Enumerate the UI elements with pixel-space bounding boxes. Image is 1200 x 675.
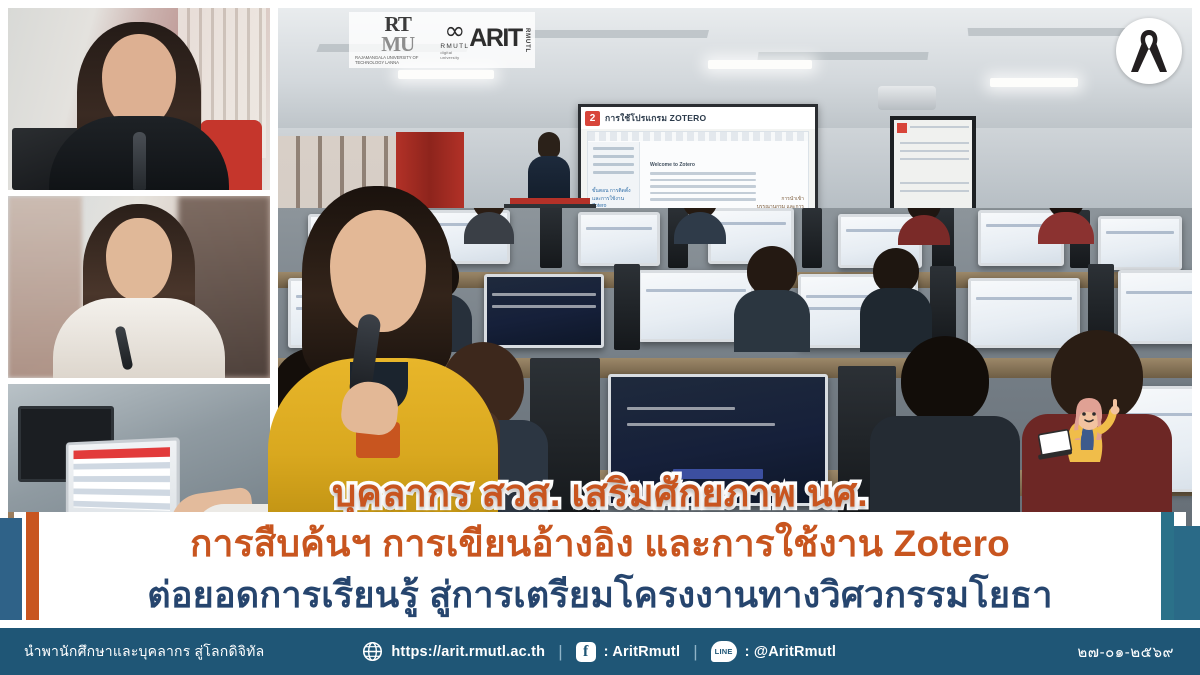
slide-number-badge [897,123,907,133]
footer-facebook-text: : AritRmutl [604,644,681,660]
person-face [102,34,176,128]
footer-separator: | [558,642,562,662]
logo-infinity-caption: RMUTL [440,43,469,50]
student [898,208,950,244]
footer-tagline: นำพานักศึกษาและบุคลากร สู่โลกดิจิทัล [24,641,264,663]
photo-speaker-portrait-white-blouse [8,196,270,378]
footer-line-text: : @AritRmutl [745,644,836,660]
student-body [734,290,810,352]
screen-line [1126,291,1192,294]
wall-mounted-monitor [890,116,976,214]
sidebar-line [593,155,634,158]
content-line [650,185,756,188]
lab-monitor [1098,216,1182,270]
logo-strip: RT MU RAJAMANGALA UNIVERSITY OF TECHNOLO… [349,12,535,68]
tv-line [900,158,969,160]
ceiling-projector [878,86,936,110]
slide-header: 2 การใช้โปรแกรม ZOTERO [581,107,815,129]
student-head [747,246,797,296]
footer-line[interactable]: : @AritRmutl [711,641,836,662]
student [1038,208,1094,244]
logo-rmutl-subtext: RAJAMANGALA UNIVERSITY OF TECHNOLOGY LAN… [355,55,440,65]
slide-app-toolbar [588,132,808,141]
line-icon [711,641,737,662]
logo-rmutl-line2: MU [381,35,414,54]
speaker-face [330,210,426,332]
mourning-ribbon-badge [1116,18,1182,84]
slide-number-badge: 2 [585,111,600,126]
ceiling-panel [757,52,928,60]
slide-title: การใช้โปรแกรม ZOTERO [605,111,706,125]
tv-line [900,150,969,152]
projection-screen: 2 การใช้โปรแกรม ZOTERO Welcome to Zotero [578,104,818,224]
logo-rmutl-wordmark: RT MU RAJAMANGALA UNIVERSITY OF TECHNOLO… [355,15,440,65]
logo-arit-text: ARIT [469,27,521,50]
headline-line-3: ต่อยอดการเรียนรู้ สู่การเตรียมโครงงานทาง… [0,566,1200,623]
presenter-head [538,132,560,158]
pc-tower [614,264,640,350]
footer-facebook[interactable]: : AritRmutl [576,642,681,662]
mourning-ribbon-icon [1128,28,1170,74]
footer-bar: นำพานักศึกษาและบุคลากร สู่โลกดิจิทัล htt… [0,628,1200,675]
logo-arit-vertical-text: RMUTL [524,28,529,53]
person-torso [53,298,225,378]
ceiling-panel [527,30,709,38]
pc-tower [540,208,562,268]
student-body [674,212,726,244]
facebook-icon [576,642,596,662]
tv-line [900,142,969,144]
sidebar-line [593,163,634,166]
footer-contacts: https://arit.rmutl.ac.th | : AritRmutl |… [362,641,836,662]
ceiling-light [990,78,1078,87]
student [674,208,726,244]
footer-website-text: https://arit.rmutl.ac.th [391,644,545,660]
screen-line [646,289,746,292]
lab-monitor [578,212,660,266]
photo-speaker-portrait-black-shirt [8,8,270,190]
ceiling-light [708,60,812,69]
logo-arit-wordmark: ARIT RMUTL [469,27,529,53]
headline-block: บุคลากร สวส. เสริมศักยภาพ นศ. การสืบค้นฯ… [0,462,1200,628]
headline-line-2: การสืบค้นฯ การเขียนอ้างอิง และการใช้งาน … [0,514,1200,573]
screen-line [716,222,786,225]
logo-rmutl-infinity: ∞ RMUTL digital university [440,20,469,61]
slide-content-lines [650,172,756,205]
sidebar-line [593,171,634,174]
publicity-banner: 2 การใช้โปรแกรม ZOTERO Welcome to Zotero [0,0,1200,675]
screen-line [1106,231,1174,234]
slide-body: Welcome to Zotero ขั้นตอน การติดตั้ง และ… [587,131,809,217]
illustrated-woman-with-laptop [1038,392,1142,496]
screen-line [627,423,775,426]
logo-infinity-subcaption: digital university [440,50,469,60]
slide-content-heading: Welcome to Zotero [650,162,695,168]
content-line [650,172,756,175]
person-face [106,218,172,300]
screen-line [586,227,652,230]
footer-date: ๒๗-๐๑-๒๕๖๙ [1077,640,1174,664]
tv-line [900,190,969,192]
tv-line [900,182,969,184]
mascot-figure [1038,398,1120,462]
logo-arit: ARIT RMUTL [469,27,529,53]
student [734,246,810,352]
screen-line [627,407,735,410]
student-body [1038,212,1094,244]
footer-separator: | [693,642,697,662]
tv-line [910,126,969,128]
sidebar-line [593,147,634,150]
student-body [898,215,950,245]
infinity-icon: ∞ [444,20,465,43]
screen-line [976,297,1072,300]
footer-website[interactable]: https://arit.rmutl.ac.th [362,641,545,662]
ceiling-light [398,70,494,79]
student-head [901,336,989,424]
content-line [650,192,756,195]
content-line [650,179,756,182]
globe-icon [362,641,383,662]
microphone [133,132,146,190]
content-line [650,198,756,201]
